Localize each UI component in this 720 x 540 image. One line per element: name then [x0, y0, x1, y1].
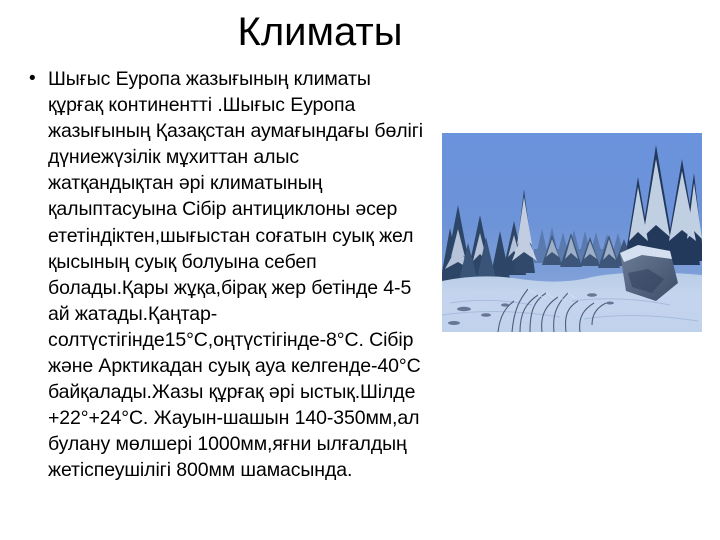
slide-canvas: Климаты • Шығыс Еуропа жазығының климаты… — [0, 0, 720, 540]
winter-forest-illustration — [442, 133, 702, 332]
body-text-block: • Шығыс Еуропа жазығының климаты құрғақ … — [24, 66, 428, 484]
list-item: • Шығыс Еуропа жазығының климаты құрғақ … — [24, 66, 428, 484]
page-title: Климаты — [0, 8, 640, 56]
bullet-marker-icon: • — [24, 66, 48, 92]
winter-forest-photo — [442, 133, 702, 332]
bullet-paragraph: Шығыс Еуропа жазығының климаты құрғақ ко… — [48, 66, 428, 484]
